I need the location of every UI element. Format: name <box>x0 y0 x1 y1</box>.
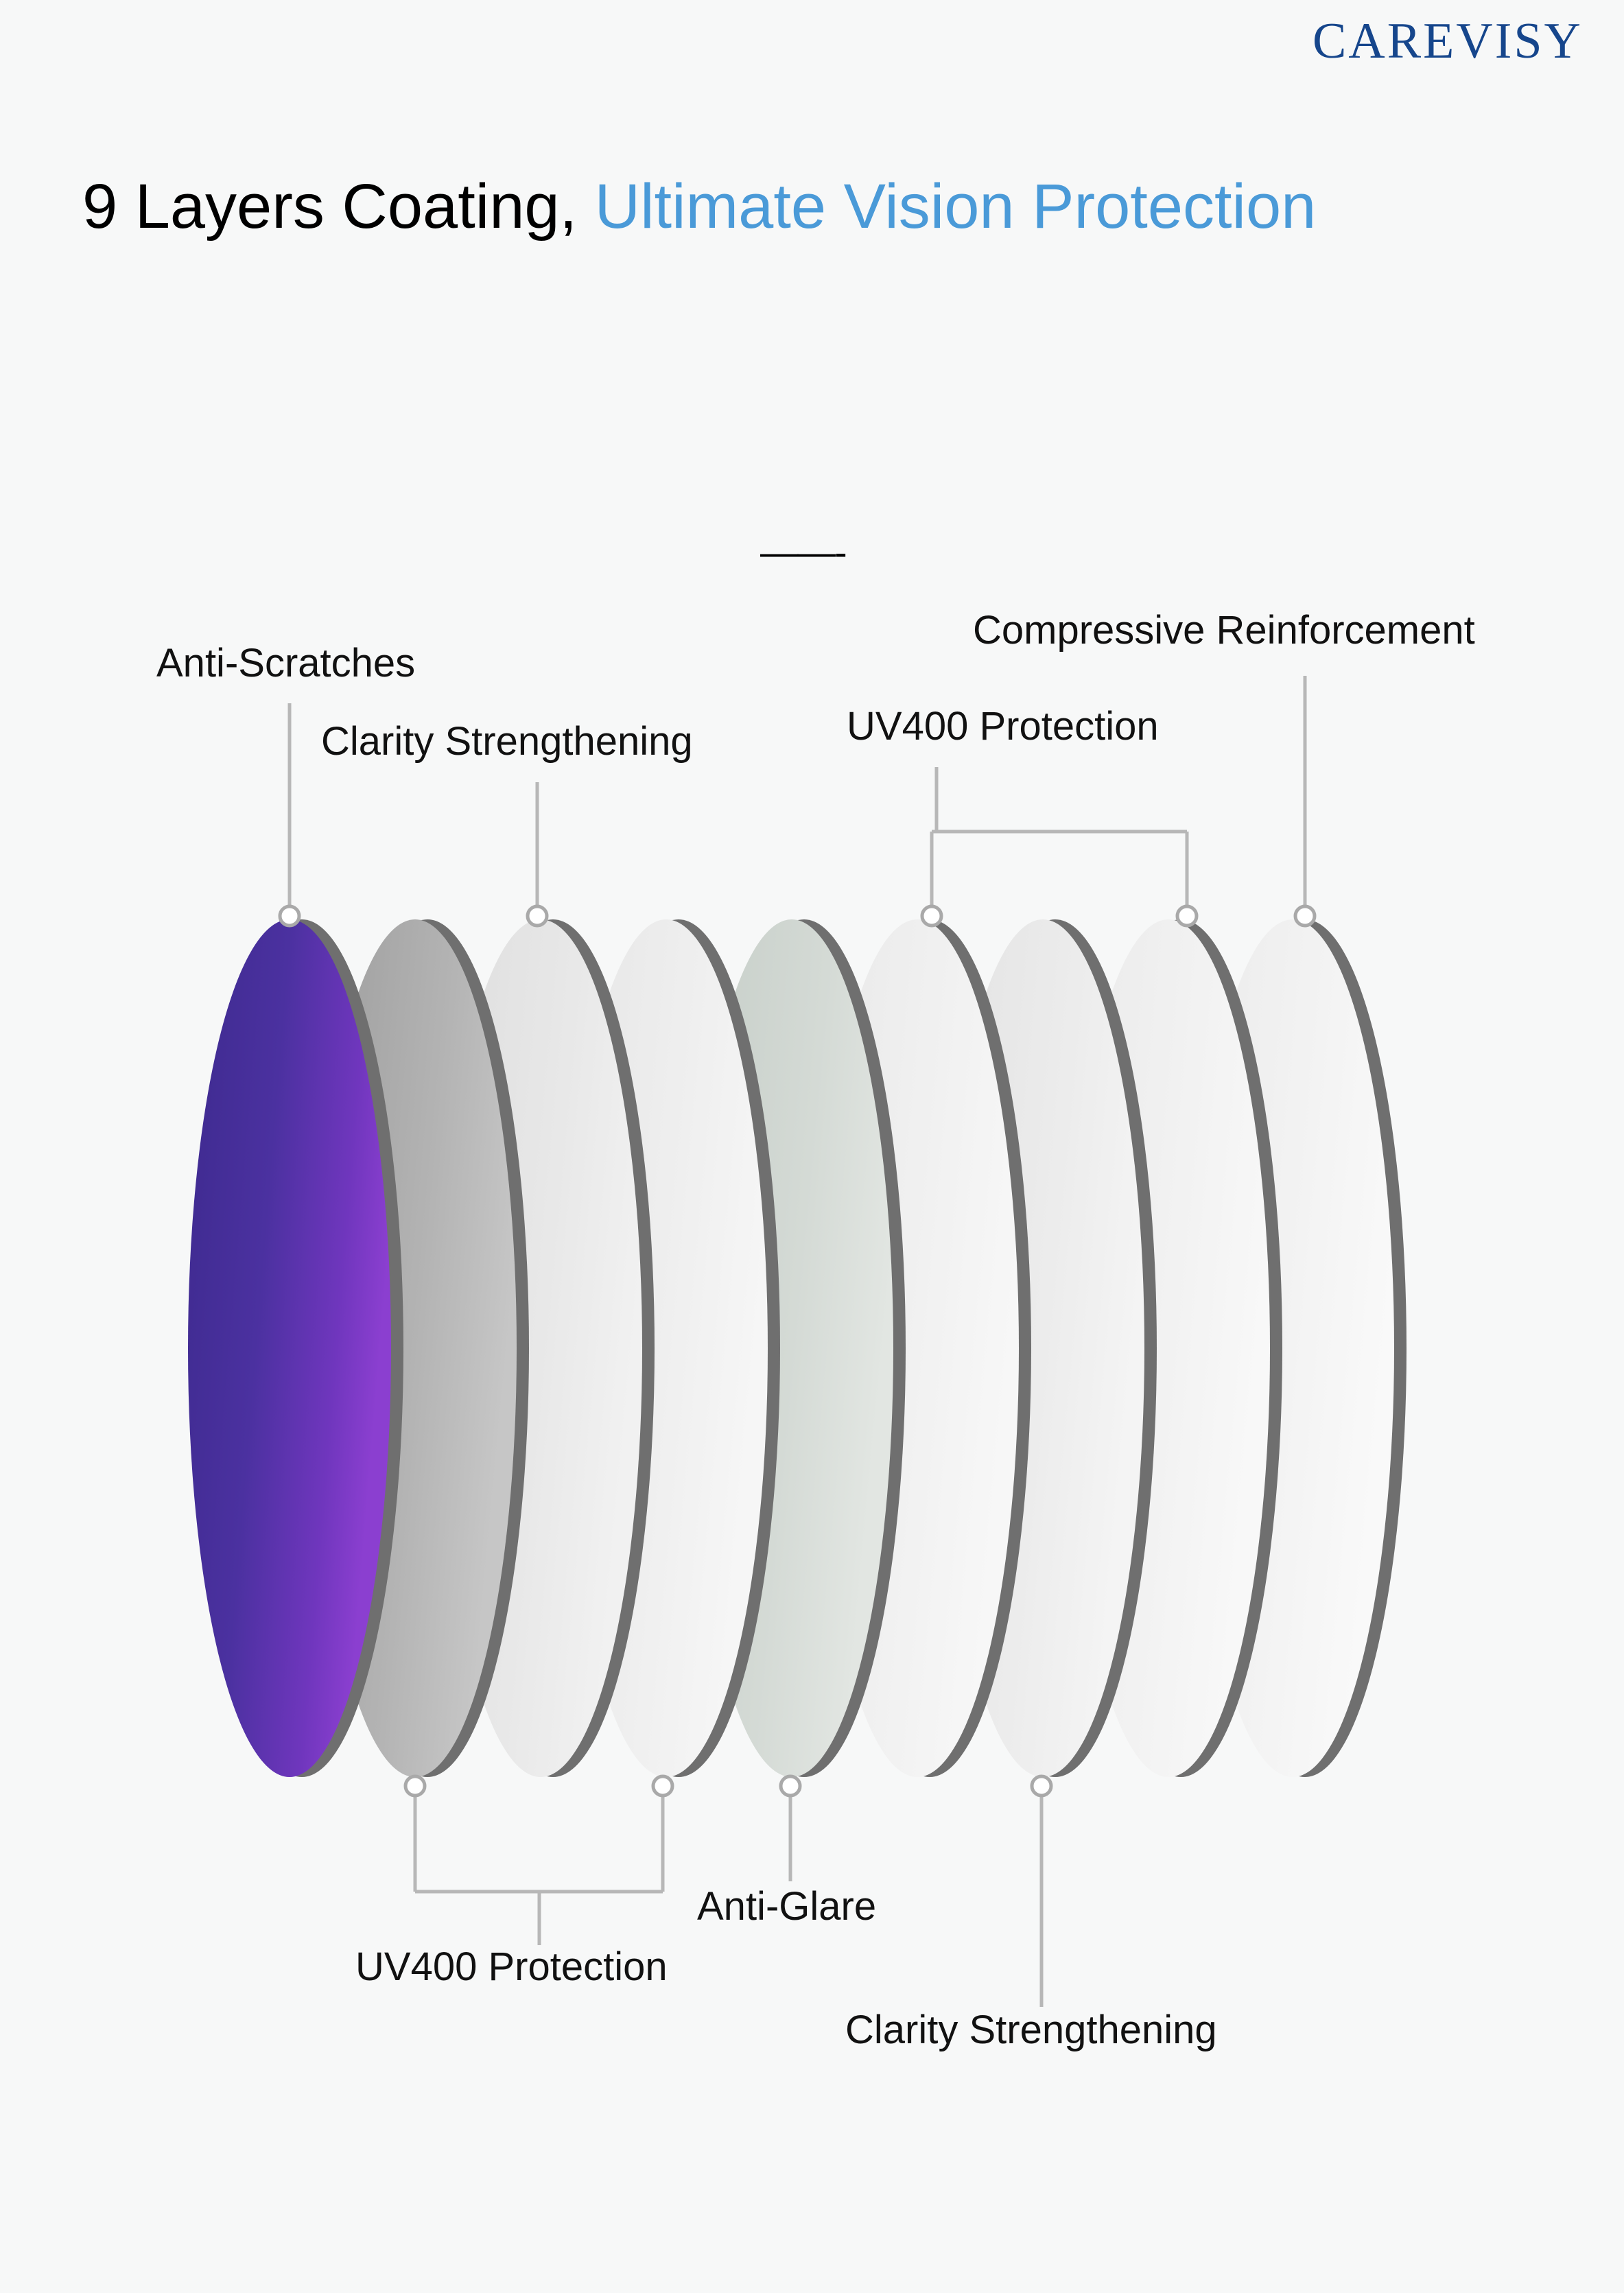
node-layer-7-bottom <box>1032 1776 1051 1796</box>
callout-clarity-strengthening-bottom: Clarity Strengthening <box>845 2010 1217 2050</box>
node-layer-1 <box>280 906 299 926</box>
callout-uv400-protection-top: UV400 Protection <box>847 707 1159 746</box>
node-layer-8 <box>1177 906 1197 926</box>
node-layer-6 <box>922 906 941 926</box>
callout-anti-glare: Anti-Glare <box>697 1887 876 1927</box>
callout-compressive-reinforcement: Compressive Reinforcement <box>973 611 1475 650</box>
callout-clarity-strengthening-top: Clarity Strengthening <box>321 722 693 762</box>
node-layer-5-bottom <box>781 1776 800 1796</box>
callout-uv400-protection-bottom: UV400 Protection <box>355 1947 668 1987</box>
lens-layers <box>188 919 1407 1777</box>
node-layer-3 <box>528 906 547 926</box>
node-layer-4-bottom <box>653 1776 672 1796</box>
lens-stack-diagram <box>0 0 1624 2293</box>
lens-layer-1 <box>188 919 403 1777</box>
node-layer-9 <box>1295 906 1315 926</box>
infographic-page: CAREVISY 9 Layers Coating, Ultimate Visi… <box>0 0 1624 2293</box>
node-layer-2-bottom <box>405 1776 425 1796</box>
callout-anti-scratches: Anti-Scratches <box>156 644 415 683</box>
